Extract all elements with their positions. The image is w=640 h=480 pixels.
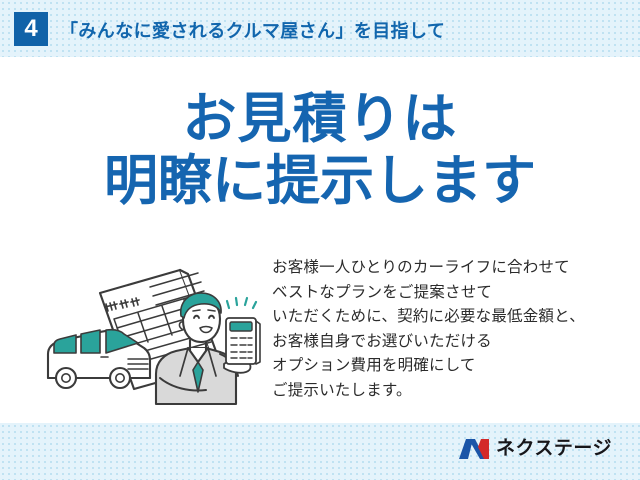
body-line: お客様自身でお選びいただける <box>272 330 632 355</box>
headline-line-2: 明瞭に提示します <box>0 150 640 212</box>
sparkle-icon <box>227 298 256 308</box>
header-band: 4 「みんなに愛されるクルマ屋さん」を目指して <box>0 0 640 57</box>
illustration-salesman <box>38 258 278 408</box>
promo-slide: 4 「みんなに愛されるクルマ屋さん」を目指して お見積りは 明瞭に提示します お… <box>0 0 640 480</box>
header-title: 「みんなに愛されるクルマ屋さん」を目指して <box>60 14 445 45</box>
nextage-logo: ネクステージ <box>459 437 612 461</box>
illustration-svg <box>38 258 278 408</box>
nextage-logo-text: ネクステージ <box>496 437 612 461</box>
body-line: オプション費用を明確にして <box>272 354 632 379</box>
headline-line-1: お見積りは <box>0 88 640 150</box>
footer-band: ネクステージ <box>0 423 640 480</box>
body-line: お客様一人ひとりのカーライフに合わせて <box>272 256 632 281</box>
body-line: ご提示いたします。 <box>272 379 632 404</box>
body-line: ベストなプランをご提案させて <box>272 281 632 306</box>
body-line: いただくために、契約に必要な最低金額と、 <box>272 305 632 330</box>
nextage-n-mark-icon <box>459 437 489 461</box>
headline: お見積りは 明瞭に提示します <box>0 88 640 212</box>
body-copy: お客様一人ひとりのカーライフに合わせて ベストなプランをご提案させて いただくた… <box>272 256 632 404</box>
calculator-icon <box>226 318 260 364</box>
step-number-badge: 4 <box>14 12 48 46</box>
